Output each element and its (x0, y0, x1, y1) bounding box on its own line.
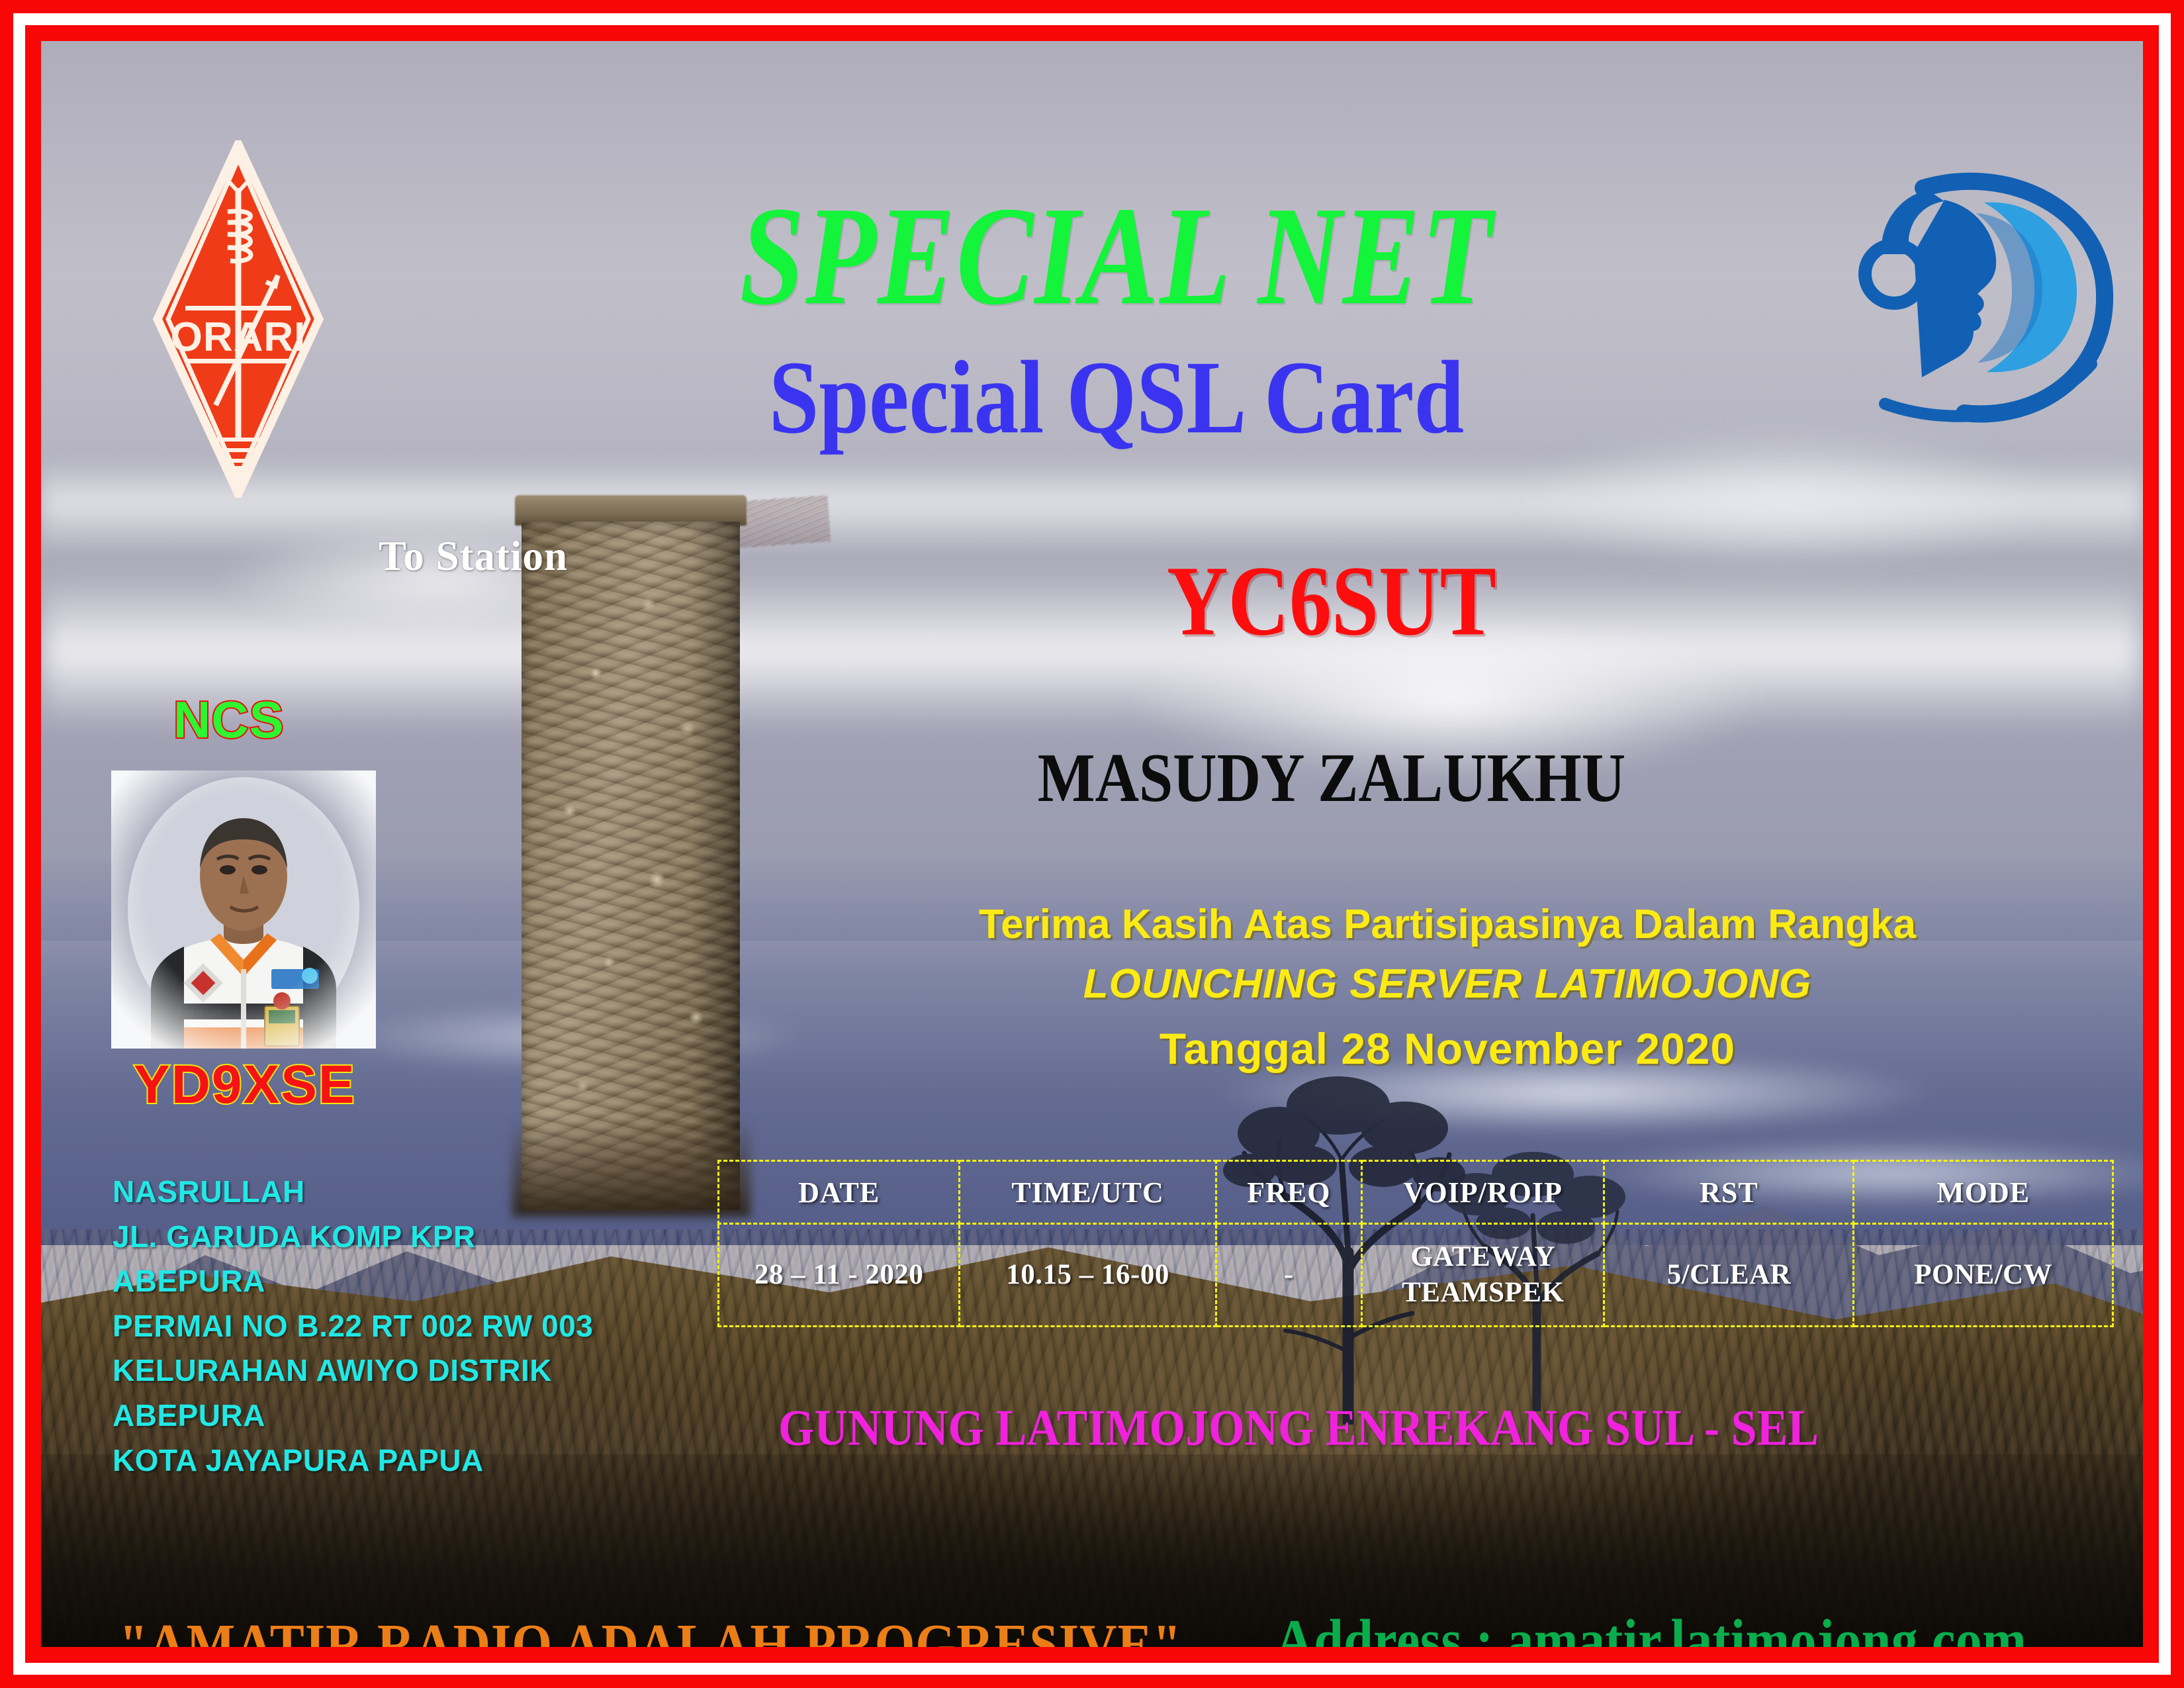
ncs-callsign: YD9XSE (134, 1054, 356, 1116)
footer-slogan: "AMATIR RADIO ADALAH PROGRESIVE" (119, 1615, 1182, 1647)
column-header-voip: VOIP/ROIP (1362, 1161, 1604, 1224)
footer-address: Address : amatir.latimojong.com (1275, 1611, 2026, 1647)
page-title: SPECIAL NET (478, 185, 1755, 327)
svg-text:ORARI: ORARI (171, 314, 306, 360)
thanks-message: Terima Kasih Atas Partisipasinya Dalam R… (769, 902, 2126, 1072)
event-date: Tanggal 28 November 2020 (769, 1025, 2126, 1073)
address-line: PERMAI NO B.22 RT 002 RW 003 (113, 1304, 708, 1349)
qsl-card-photo-background: ORARI (41, 41, 2143, 1647)
monument-shadow (691, 522, 740, 1210)
cell-rst: 5/CLEAR (1604, 1224, 1854, 1327)
station-callsign: YC6SUT (968, 551, 1696, 651)
column-header-mode: MODE (1854, 1161, 2113, 1224)
cell-freq: - (1216, 1224, 1361, 1327)
address-line: JL. GARUDA KOMP KPR (113, 1215, 708, 1260)
ncs-address: NASRULLAH JL. GARUDA KOMP KPR ABEPURA PE… (113, 1170, 708, 1483)
cell-voip: GATEWAY TEAMSPEK (1362, 1224, 1604, 1327)
cell-time: 10.15 – 16-00 (960, 1224, 1216, 1327)
table-row: 28 – 11 - 2020 10.15 – 16-00 - GATEWAY T… (719, 1224, 2113, 1327)
qso-details-table: DATE TIME/UTC FREQ VOIP/ROIP RST MODE 28… (717, 1160, 2114, 1327)
ncs-label: NCS (173, 690, 285, 750)
address-line: KOTA JAYAPURA PAPUA (113, 1438, 708, 1483)
cell-voip-line-2: TEAMSPEK (1363, 1275, 1603, 1311)
address-line: KELURAHAN AWIYO DISTRIK (113, 1348, 708, 1393)
location-label: GUNUNG LATIMOJONG ENREKANG SUL - SEL (637, 1403, 1960, 1454)
address-line: ABEPURA (113, 1259, 708, 1304)
orari-logo: ORARI (152, 140, 324, 498)
page-subtitle: Special QSL Card (478, 346, 1755, 450)
event-name: LOUNCHING SERVER LATIMOJONG (769, 962, 2126, 1007)
cell-mode: PONE/CW (1854, 1224, 2113, 1327)
stone-monument (522, 495, 740, 1210)
operator-name: MASUDY ZALUKHU (875, 743, 1788, 812)
column-header-time: TIME/UTC (960, 1161, 1216, 1224)
table-header-row: DATE TIME/UTC FREQ VOIP/ROIP RST MODE (719, 1161, 2113, 1224)
column-header-freq: FREQ (1216, 1161, 1361, 1224)
column-header-date: DATE (719, 1161, 960, 1224)
address-line: NASRULLAH (113, 1170, 708, 1215)
column-header-rst: RST (1604, 1161, 1854, 1224)
qsl-card-outer-border: ORARI (0, 0, 2184, 1688)
avatar: YD9XSE (111, 771, 376, 1049)
to-station-label: To Station (379, 532, 568, 581)
thanks-line-1: Terima Kasih Atas Partisipasinya Dalam R… (769, 902, 2126, 947)
cell-date: 28 – 11 - 2020 (719, 1224, 960, 1327)
cell-voip-line-1: GATEWAY (1363, 1239, 1603, 1275)
address-line: ABEPURA (113, 1393, 708, 1438)
headset-profile-logo (1845, 154, 2130, 432)
